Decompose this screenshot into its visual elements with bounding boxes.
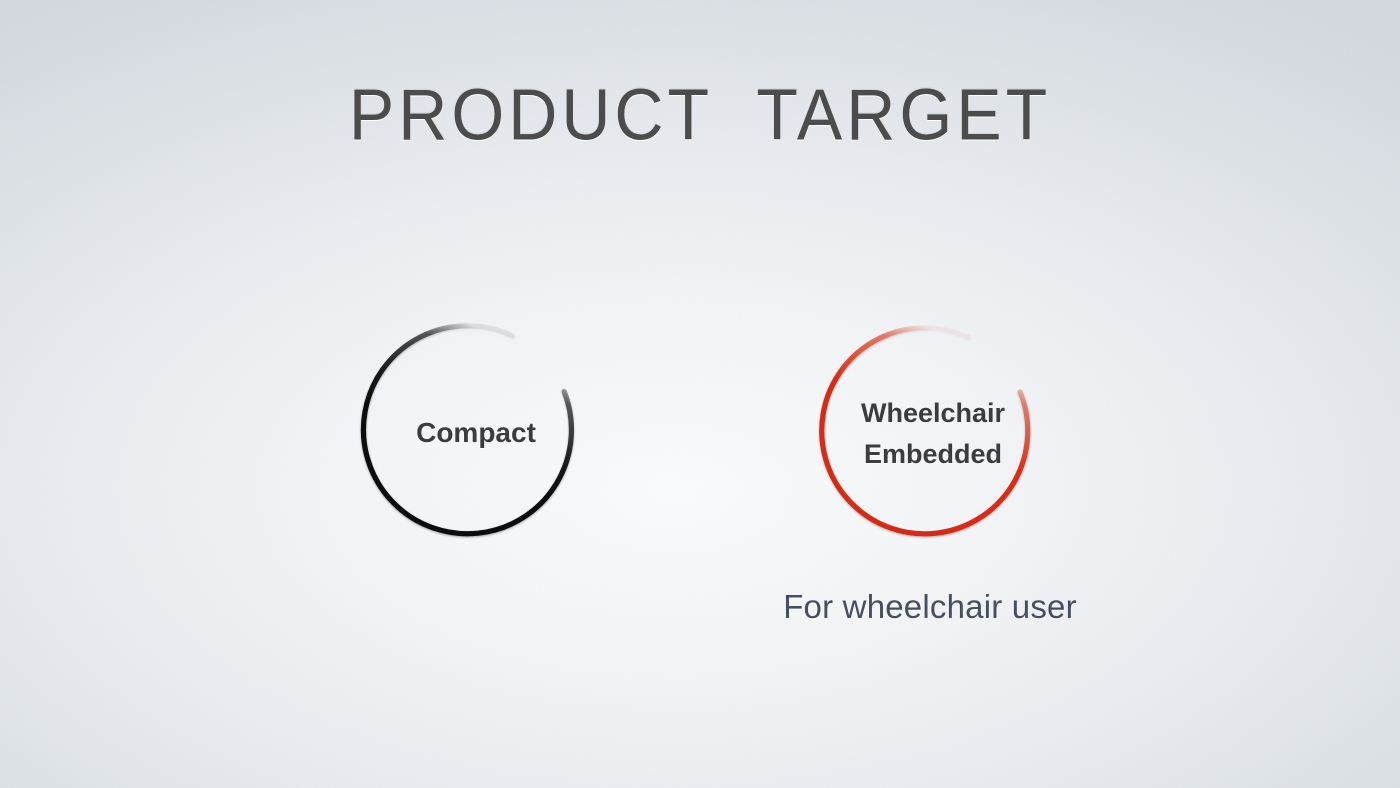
diagram-node-compact[interactable]: Compact: [360, 316, 592, 548]
diagram-node-wheelchair-embedded[interactable]: Wheelchair Embedded: [817, 318, 1049, 550]
slide-title: PRODUCT TARGET: [0, 74, 1400, 157]
slide-canvas: PRODUCT TARGET: [0, 0, 1400, 788]
circle-ring-wheelchair-icon: [817, 318, 1049, 550]
caption-text: For wheelchair user: [700, 588, 1160, 626]
circle-ring-compact-icon: [360, 316, 592, 548]
